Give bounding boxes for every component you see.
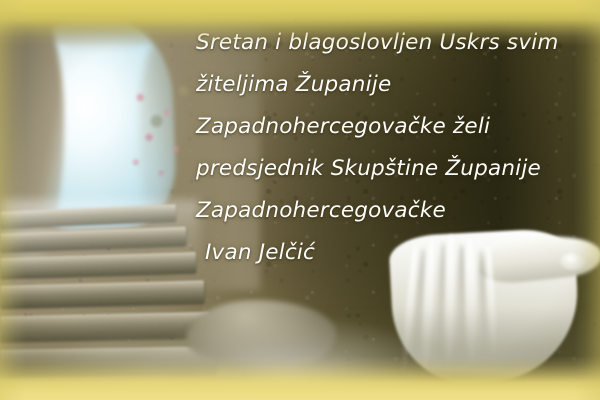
greeting-line-1: Sretan i blagoslovljen Uskrs svim <box>196 22 600 64</box>
greeting-line-5: Zapadnohercegovačke <box>196 190 600 232</box>
greeting-line-4: predsjednik Skupštine Županije <box>196 148 600 190</box>
easter-greeting-card: Sretan i blagoslovljen Uskrs svim žitelj… <box>0 0 600 400</box>
greeting-text-block: Sretan i blagoslovljen Uskrs svim žitelj… <box>196 22 600 274</box>
greeting-line-2: žiteljima Županije <box>196 64 600 106</box>
greeting-signatory: Ivan Jelčić <box>196 232 600 274</box>
greeting-line-3: Zapadnohercegovačke želi <box>196 106 600 148</box>
